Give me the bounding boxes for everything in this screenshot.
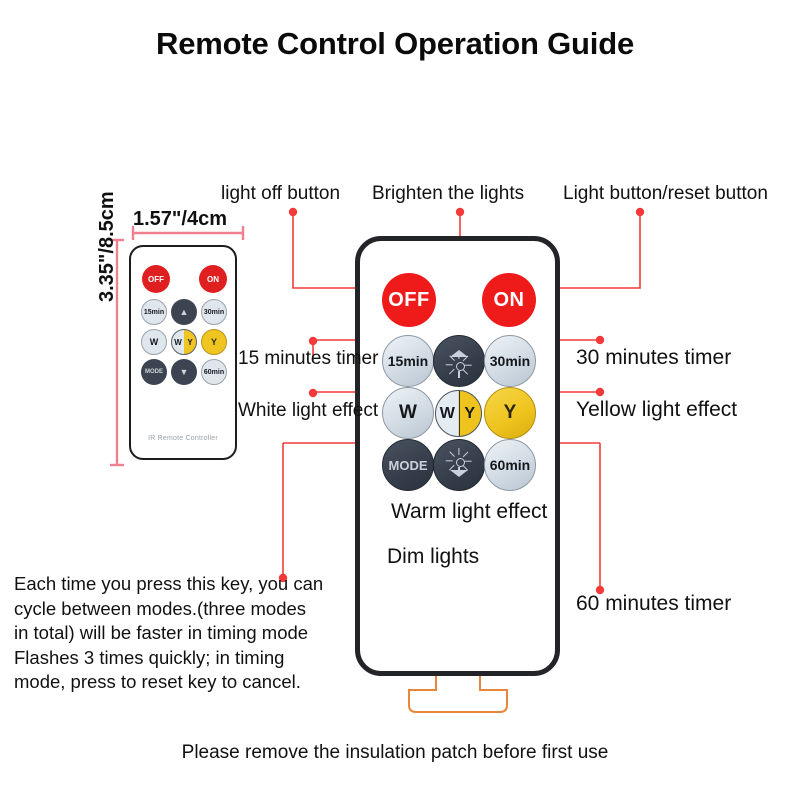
mixed-light-button[interactable]: W Y [435,390,482,437]
annotation-light-off: light off button [221,182,340,205]
mode-description-line-4: Flashes 3 times quickly; in timing [14,646,364,671]
annotation-warm-effect: Warm light effect [391,500,547,523]
annotation-brighten: Brighten the lights [372,182,524,205]
brighten-button[interactable] [433,335,485,387]
mixed-divider [459,391,461,436]
annotation-timer30: 30 minutes timer [576,346,731,369]
remote-body: OFF ON 15min 30min W [355,236,560,676]
dim-sun-down-icon [450,454,468,477]
mini-timer30-button[interactable]: 30min [201,299,227,325]
mixed-yellow-label: Y [459,391,482,436]
annotation-light-reset: Light button/reset button [563,182,768,205]
mode-button[interactable]: MODE [382,439,434,491]
mini-mode-button[interactable]: MODE [141,359,167,385]
white-light-button[interactable]: W [382,387,434,439]
on-button[interactable]: ON [482,273,536,327]
yellow-light-button[interactable]: Y [484,387,536,439]
off-button[interactable]: OFF [382,273,436,327]
mini-mixed-button[interactable]: W Y [171,329,197,355]
mini-mixed-y-label: Y [184,338,196,347]
footer-note: Please remove the insulation patch befor… [0,742,790,764]
mini-timer60-button[interactable]: 60min [201,359,227,385]
annotation-yellow-effect: Yellow light effect [576,398,737,421]
mode-description: Each time you press this key, you can cy… [14,572,364,695]
dim-button[interactable] [433,439,485,491]
mini-on-button[interactable]: ON [199,265,227,293]
annotation-timer15: 15 minutes timer [238,347,378,370]
mini-dim-icon: ▼ [180,367,189,377]
guide-canvas: Remote Control Operation Guide [0,0,790,790]
mixed-white-label: W [436,391,459,436]
mini-mixed-w-label: W [172,338,184,347]
height-dimension-label: 3.35"/8.5cm [96,191,119,302]
mini-yellow-button[interactable]: Y [201,329,227,355]
annotation-timer60: 60 minutes timer [576,592,731,615]
mode-description-line-5: mode, press to reset key to cancel. [14,670,364,695]
annotation-dim: Dim lights [387,545,479,568]
timer-60min-button[interactable]: 60min [484,439,536,491]
annotation-white-effect: White light effect [238,399,378,422]
mini-brighten-button[interactable]: ▲ [171,299,197,325]
mode-description-line-1: Each time you press this key, you can [14,572,364,597]
timer-15min-button[interactable]: 15min [382,335,434,387]
mini-remote-body: OFF ON 15min ▲ 30min W W Y Y MODE ▼ 60mi… [129,245,237,460]
mini-dim-button[interactable]: ▼ [171,359,197,385]
page-title: Remote Control Operation Guide [0,26,790,62]
mini-off-button[interactable]: OFF [142,265,170,293]
timer-30min-button[interactable]: 30min [484,335,536,387]
mini-timer15-button[interactable]: 15min [141,299,167,325]
mini-remote-footer-text: IR Remote Controller [131,435,235,442]
width-dimension-label: 1.57"/4cm [133,208,227,231]
mode-description-line-3: in total) will be faster in timing mode [14,621,364,646]
mini-brighten-icon: ▲ [180,307,189,317]
mode-description-line-2: cycle between modes.(three modes [14,597,364,622]
mini-white-button[interactable]: W [141,329,167,355]
brighten-sun-up-icon [450,350,468,373]
